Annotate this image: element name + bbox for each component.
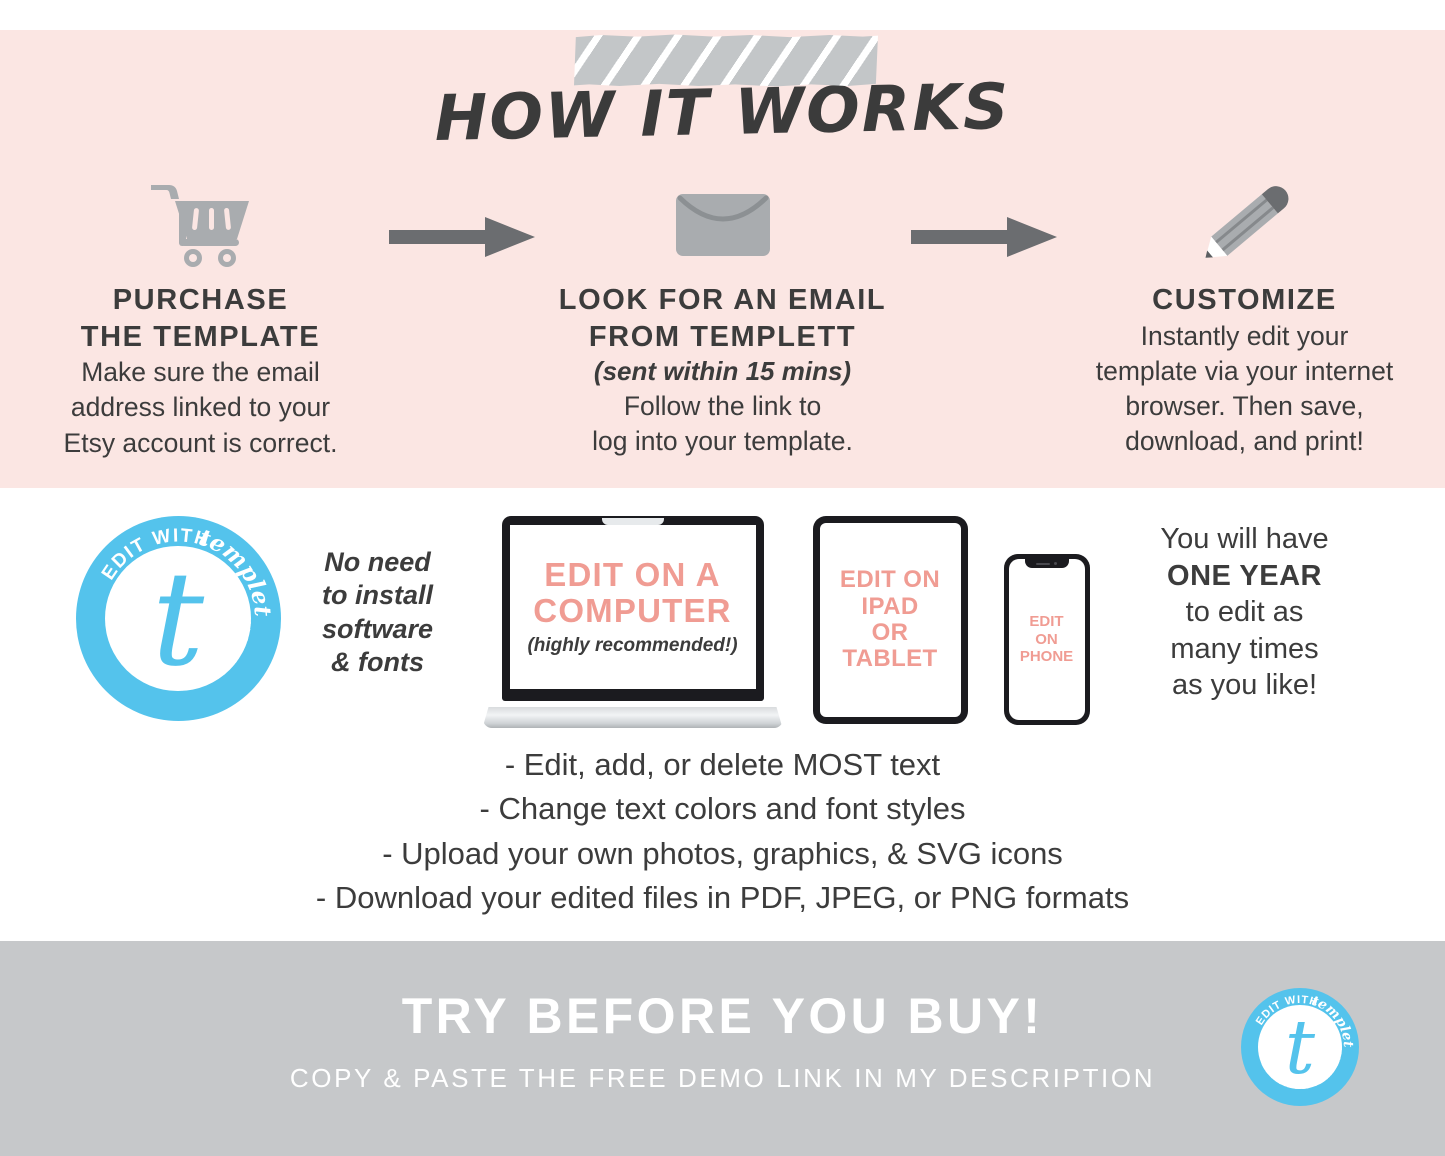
step-title-purchase-line2: THE TEMPLATE: [15, 319, 387, 356]
envelope-icon: [537, 178, 909, 270]
one-year-line1: You will have: [1120, 521, 1370, 558]
phone-screen: EDIT ON PHONE: [1009, 559, 1085, 720]
try-before-you-buy-banner: TRY BEFORE YOU BUY! COPY & PASTE THE FRE…: [0, 941, 1445, 1156]
one-year-line3: to edit as: [1120, 594, 1370, 631]
laptop-text-line2: COMPUTER: [533, 593, 731, 629]
list-item: - Change text colors and font styles: [0, 787, 1445, 831]
step-note-email: (sent within 15 mins): [537, 355, 909, 389]
step-body-purchase-line3: Etsy account is correct.: [15, 426, 387, 461]
arrow-right-icon: [389, 212, 535, 262]
washi-tape-icon: [574, 34, 878, 87]
tablet-text-line3: OR: [840, 620, 940, 646]
laptop-camera-notch: [602, 518, 664, 525]
phone-text-line2: ON: [1020, 631, 1073, 648]
list-item: - Edit, add, or delete MOST text: [0, 743, 1445, 787]
step-purchase: PURCHASE THE TEMPLATE Make sure the emai…: [15, 178, 387, 461]
no-need-line1: No need: [303, 546, 453, 579]
laptop-mockup: EDIT ON A COMPUTER (highly recommended!): [483, 516, 783, 728]
step-title-email-line2: FROM TEMPLETT: [537, 319, 909, 356]
step-title-purchase-line1: PURCHASE: [15, 282, 387, 319]
shopping-cart-icon: [15, 178, 387, 270]
no-need-line3: software: [303, 613, 453, 646]
laptop-lid: EDIT ON A COMPUTER (highly recommended!): [502, 516, 764, 701]
laptop-base: [483, 707, 783, 728]
templett-badge: t EDIT WITH templett EDITABLE TEMPLATE: [76, 516, 281, 721]
step-body-customize-line3: browser. Then save,: [1059, 389, 1431, 424]
no-need-line4: & fonts: [303, 646, 453, 679]
arrow-2-wrapper: [909, 178, 1059, 262]
one-year-highlight: ONE YEAR: [1167, 560, 1322, 592]
step-body-purchase-line2: address linked to your: [15, 390, 387, 425]
step-body-customize-line4: download, and print!: [1059, 424, 1431, 459]
templett-badge-text: EDIT WITH templett EDITABLE TEMPLATE: [76, 516, 281, 721]
pencil-icon: [1059, 178, 1431, 270]
step-customize: CUSTOMIZE Instantly edit your template v…: [1059, 178, 1431, 459]
tablet-text-line2: IPAD: [840, 594, 940, 620]
tablet-text-line1: EDIT ON: [840, 567, 940, 593]
laptop-screen: EDIT ON A COMPUTER (highly recommended!): [510, 525, 756, 689]
devices-row: t EDIT WITH templett EDITABLE TEMPLATE: [0, 516, 1445, 731]
tablet-mockup: EDIT ON IPAD OR TABLET: [813, 516, 968, 724]
tablet-screen: EDIT ON IPAD OR TABLET: [820, 523, 961, 717]
phone-text-line3: PHONE: [1020, 648, 1073, 665]
laptop-text-sub: (highly recommended!): [527, 635, 737, 657]
phone-notch: [1025, 559, 1069, 568]
one-year-line5: as you like!: [1120, 667, 1370, 704]
step-body-customize-line2: template via your internet: [1059, 354, 1431, 389]
step-body-email-line1: Follow the link to: [537, 389, 909, 424]
templett-badge-small: t EDIT WITH templett EDITABLE TEMPLATE: [1241, 988, 1359, 1106]
how-it-works-section: HOW IT WORKS: [0, 30, 1445, 488]
steps-row: PURCHASE THE TEMPLATE Make sure the emai…: [0, 178, 1445, 461]
banner-subtitle: COPY & PASTE THE FREE DEMO LINK IN MY DE…: [0, 1063, 1445, 1094]
no-need-line2: to install: [303, 579, 453, 612]
one-year-text: You will have ONE YEAR to edit as many t…: [1120, 521, 1370, 704]
how-it-works-infographic: HOW IT WORKS: [0, 0, 1445, 1156]
features-list: - Edit, add, or delete MOST text - Chang…: [0, 743, 1445, 920]
one-year-line4: many times: [1120, 631, 1370, 668]
svg-text:EDIT WITH: EDIT WITH: [1254, 994, 1320, 1027]
list-item: - Upload your own photos, graphics, & SV…: [0, 832, 1445, 876]
no-need-text: No need to install software & fonts: [303, 546, 453, 680]
phone-camera-icon: [1054, 562, 1057, 565]
templett-badge-small-text: EDIT WITH templett EDITABLE TEMPLATE: [1241, 988, 1359, 1106]
step-title-email-line1: LOOK FOR AN EMAIL: [537, 282, 909, 319]
step-title-customize: CUSTOMIZE: [1059, 282, 1431, 319]
phone-speaker-icon: [1036, 563, 1050, 565]
phone-mockup: EDIT ON PHONE: [1004, 554, 1090, 725]
phone-text-line1: EDIT: [1020, 613, 1073, 630]
step-email: LOOK FOR AN EMAIL FROM TEMPLETT (sent wi…: [537, 178, 909, 459]
arrow-right-icon: [911, 212, 1057, 262]
list-item: - Download your edited files in PDF, JPE…: [0, 876, 1445, 920]
step-body-customize-line1: Instantly edit your: [1059, 319, 1431, 354]
banner-title: TRY BEFORE YOU BUY!: [0, 987, 1445, 1045]
laptop-text-line1: EDIT ON A: [544, 557, 720, 593]
step-body-purchase-line1: Make sure the email: [15, 355, 387, 390]
svg-text:EDIT WITH: EDIT WITH: [97, 525, 211, 583]
step-body-email-line2: log into your template.: [537, 424, 909, 459]
tablet-text-line4: TABLET: [840, 646, 940, 672]
arrow-1-wrapper: [387, 178, 537, 262]
devices-and-features-section: t EDIT WITH templett EDITABLE TEMPLATE: [0, 488, 1445, 941]
